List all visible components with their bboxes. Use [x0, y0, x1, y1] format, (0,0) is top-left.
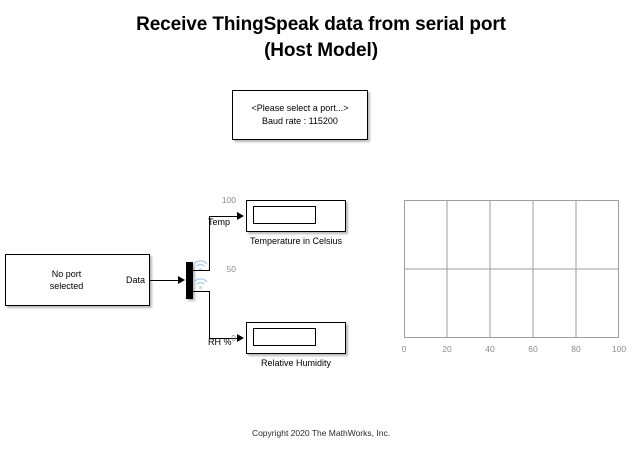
arrow-into-demux [178, 276, 185, 284]
demux-block[interactable] [186, 262, 193, 299]
wifi-icon [193, 277, 209, 292]
serial-port-value: <Please select a port...> [251, 102, 348, 115]
serial-configuration-block[interactable]: <Please select a port...> Baud rate : 11… [232, 90, 368, 140]
page-title: Receive ThingSpeak data from serial port… [0, 12, 642, 64]
y-tick-label: 0 [196, 333, 236, 343]
humidity-display-value [253, 328, 316, 346]
serial-receive-label-line-2: selected [50, 281, 84, 291]
wire-source-to-demux [150, 280, 179, 281]
y-tick-label: 100 [196, 195, 236, 205]
arrow-into-temp-display [237, 212, 244, 220]
x-tick-label: 40 [475, 344, 505, 354]
x-tick-label: 60 [518, 344, 548, 354]
temperature-display-value [253, 206, 316, 224]
temperature-display-caption: Temperature in Celsius [246, 235, 346, 247]
humidity-display-caption: Relative Humidity [246, 357, 346, 369]
x-tick-label: 100 [604, 344, 634, 354]
temperature-display-block[interactable] [246, 200, 346, 232]
x-tick-label: 80 [561, 344, 591, 354]
serial-receive-block[interactable]: No port selected Data [5, 254, 150, 306]
source-output-port-label: Data [126, 274, 145, 286]
x-tick-label: 20 [432, 344, 462, 354]
signal-label-temp: Temp [208, 216, 230, 228]
serial-receive-label-line-1: No port [52, 269, 82, 279]
baud-rate-value: Baud rate : 115200 [262, 115, 338, 128]
humidity-display-block[interactable] [246, 322, 346, 354]
wire-demux-bottom-out [193, 291, 210, 292]
x-tick-label: 0 [389, 344, 419, 354]
page-title-line-2: (Host Model) [0, 38, 642, 64]
scope-plot-grid [404, 200, 619, 338]
y-tick-label: 50 [196, 264, 236, 274]
arrow-into-rh-display [237, 334, 244, 342]
wire-rh-dropper [209, 291, 210, 338]
copyright-notice: Copyright 2020 The MathWorks, Inc. [0, 427, 642, 439]
scope-plot[interactable] [404, 200, 619, 338]
page-title-line-1: Receive ThingSpeak data from serial port [0, 12, 642, 38]
